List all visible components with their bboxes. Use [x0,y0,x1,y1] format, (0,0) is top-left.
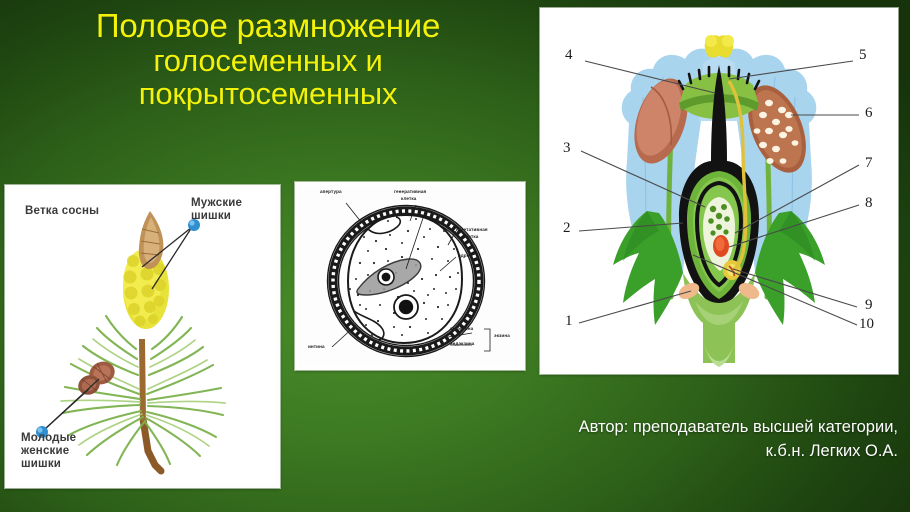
author-credit: Автор: преподаватель высшей категории, к… [428,416,898,464]
flower-number-2: 2 [563,220,571,237]
pollen-label-intine: интина [308,344,325,350]
stigma [705,35,734,58]
flower-number-4: 4 [565,47,573,64]
pollen-label-endexine: эндэкзина [450,341,474,347]
flower-number-9: 9 [865,297,873,314]
flower-number-6: 6 [865,105,873,122]
title-line-2: голосеменных и [8,44,528,77]
male-cones-label-line-1: Мужские [191,197,242,209]
pollen-label-nucleus: ядро [458,253,470,259]
pine-branch-photo-panel: Ветка сосны Мужские шишки Молодые женски… [5,185,280,488]
flower-number-3: 3 [563,140,571,157]
pollen-grain-panel: апертура генеративная клетка вегетативна… [295,182,525,370]
slide-canvas: Половое размножение голосеменных и покры… [0,0,910,512]
female-cones-label: Молодые женские шишки [21,432,76,471]
pollen-label-exine: экзина [494,333,510,339]
flower-number-5: 5 [859,47,867,64]
author-line-1: Автор: преподаватель высшей категории, [579,418,898,436]
flower-number-7: 7 [865,155,873,172]
male-cones-label-line-2: шишки [191,210,231,222]
female-cones-label-line-3: шишки [21,458,61,470]
female-cones-label-line-2: женские [21,445,69,457]
flower-number-10: 10 [859,316,874,333]
female-cones-label-line-1: Молодые [21,432,76,444]
page-title: Половое размножение голосеменных и покры… [8,8,528,111]
pollen-label-generative-2: клетка [401,196,416,202]
pollen-label-ectexine: эктэкзина [450,326,473,332]
pollen-label-vegetative-2: клетка [463,234,478,240]
pine-branch-label: Ветка сосны [25,205,99,218]
vegetative-nucleus [394,295,418,319]
pollen-label-generative-1: генеративная [394,189,426,195]
pine-branch-photo: Ветка сосны Мужские шишки Молодые женски… [9,189,276,484]
pollen-label-aperture: апертура [320,189,342,195]
flower-number-1: 1 [565,313,573,330]
title-line-1: Половое размножение [8,8,528,44]
title-line-3: покрытосеменных [8,77,528,110]
male-cones-label: Мужские шишки [191,197,242,223]
pollen-label-vegetative-1: вегетативная [456,227,488,233]
flower-illustration [543,11,895,371]
flower-diagram-panel: 4 5 6 3 7 8 2 9 10 1 [540,8,898,374]
flower-number-8: 8 [865,195,873,212]
pollen-grain-illustration [298,185,522,367]
author-line-2: к.б.н. Легких О.А. [428,440,898,464]
